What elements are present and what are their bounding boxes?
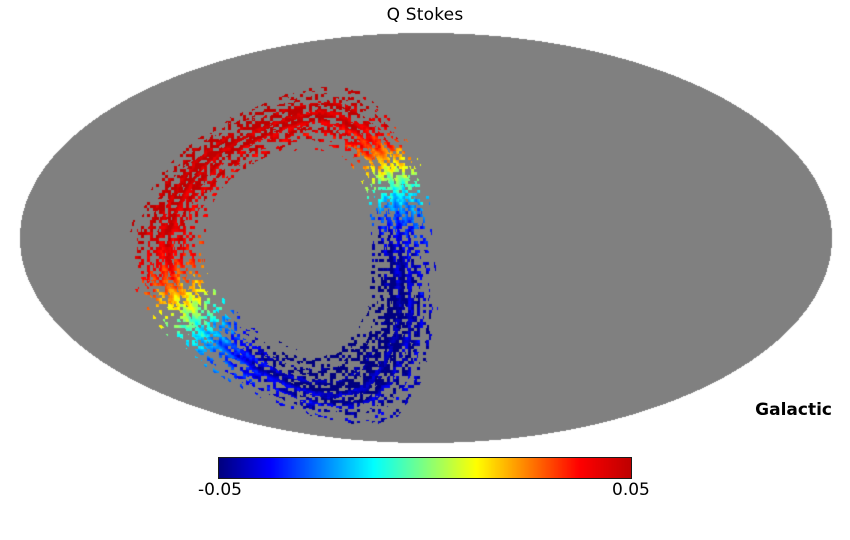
page-title: Q Stokes [0, 5, 850, 25]
coordinate-system-label: Galactic [755, 400, 832, 420]
colorbar-max-label: 0.05 [612, 480, 650, 500]
mollweide-sky-map [0, 28, 850, 448]
colorbar-gradient [218, 457, 632, 479]
colorbar [218, 457, 632, 479]
colorbar-min-label: -0.05 [198, 480, 242, 500]
figure-panel: Q Stokes Galactic -0.05 0.05 [0, 0, 850, 540]
